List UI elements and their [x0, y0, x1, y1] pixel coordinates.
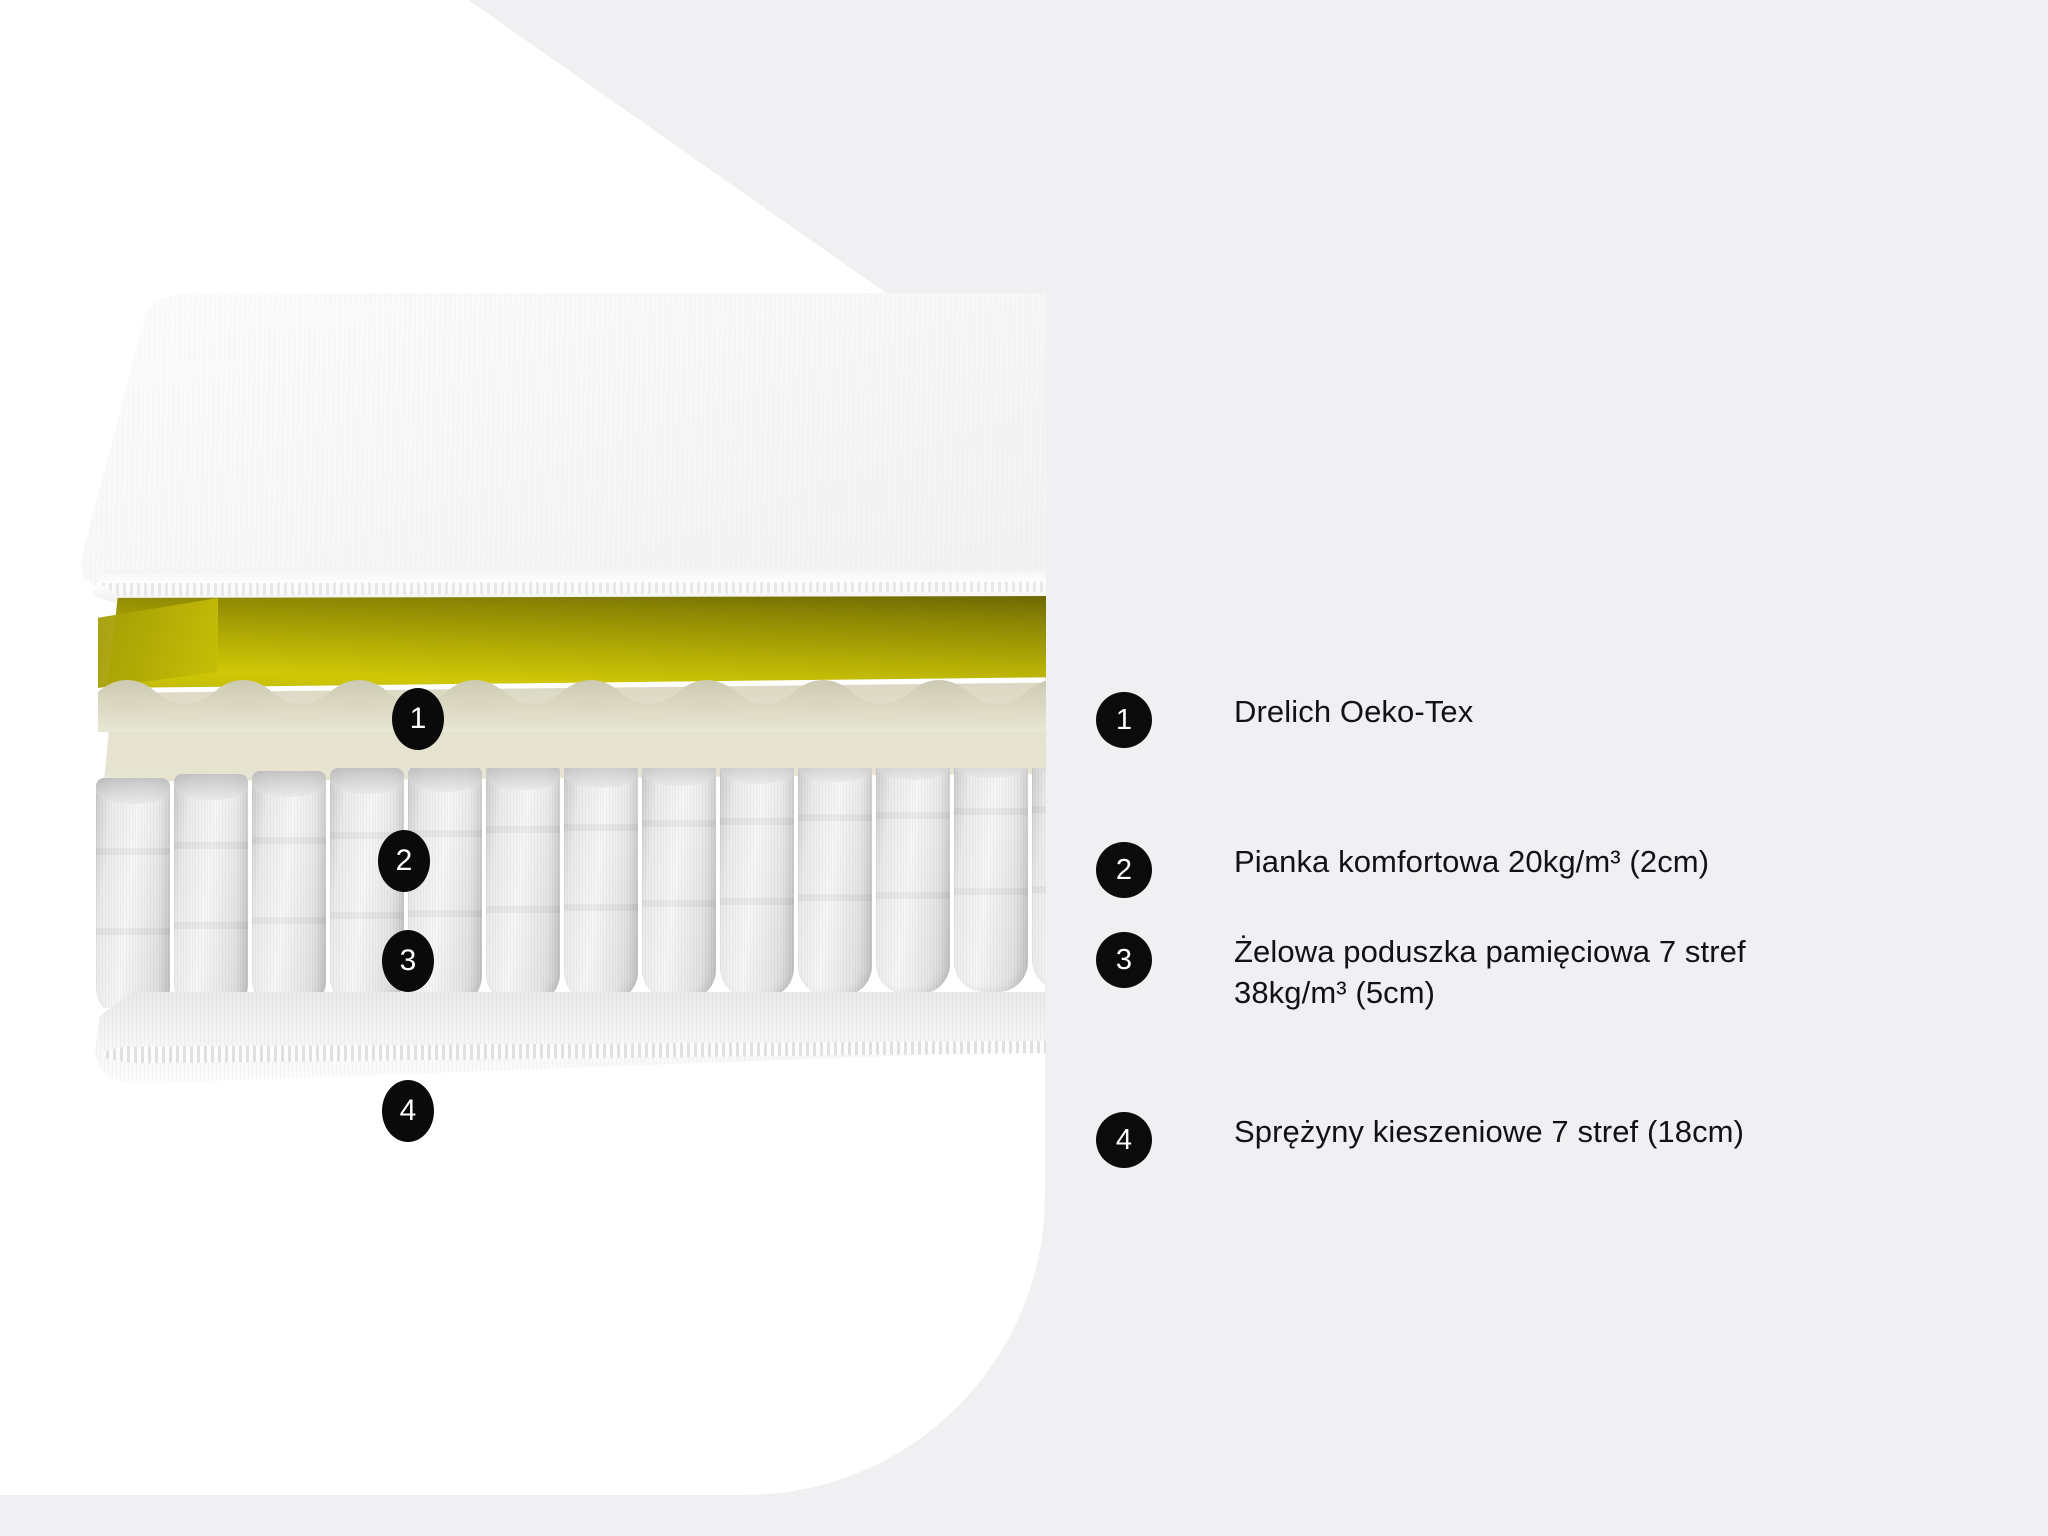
- legend-badge-2: 2: [1096, 842, 1152, 898]
- legend-badge-4: 4: [1096, 1112, 1152, 1168]
- legend-label-4: Sprężyny kieszeniowe 7 stref (18cm): [1234, 1112, 1744, 1153]
- mattress-illustration: 1 2 3 4: [0, 0, 1046, 1536]
- cover-top-surface: [70, 288, 1046, 600]
- pocket-spring: [876, 768, 950, 994]
- pocket-spring: [720, 768, 794, 998]
- legend-badge-1: 1: [1096, 692, 1152, 748]
- marker-4: 4: [382, 1080, 434, 1142]
- legend-item-4: 4 Sprężyny kieszeniowe 7 stref (18cm): [1096, 1112, 1744, 1168]
- legend-item-2: 2 Pianka komfortowa 20kg/m³ (2cm): [1096, 842, 1709, 898]
- pocket-spring: [96, 778, 170, 1008]
- marker-1: 1: [392, 688, 444, 750]
- marker-2: 2: [378, 830, 430, 892]
- legend-badge-3: 3: [1096, 932, 1152, 988]
- marker-3: 3: [382, 930, 434, 992]
- mattress-layer-cover: [70, 288, 1046, 600]
- pocket-spring: [564, 768, 638, 1002]
- pocket-spring: [174, 774, 248, 1008]
- pocket-spring: [798, 768, 872, 996]
- gel-foam-wave-profile: [98, 672, 1046, 732]
- product-layer-diagram: 1 2 3 4 1 Drelich Oeko-Tex 2 Pianka komf…: [0, 0, 2048, 1536]
- pocket-spring: [486, 768, 560, 1004]
- pocket-spring: [954, 768, 1028, 992]
- legend-label-2: Pianka komfortowa 20kg/m³ (2cm): [1234, 842, 1709, 883]
- mattress-layer-pocket-springs: [96, 768, 1046, 1008]
- legend-label-3: Żelowa poduszka pamięciowa 7 stref 38kg/…: [1234, 932, 1746, 1014]
- pocket-spring: [1032, 768, 1046, 990]
- legend-label-1: Drelich Oeko-Tex: [1234, 692, 1473, 733]
- legend-item-1: 1 Drelich Oeko-Tex: [1096, 692, 1473, 748]
- pocket-spring: [642, 768, 716, 1000]
- pocket-spring: [252, 771, 326, 1008]
- legend-item-3: 3 Żelowa poduszka pamięciowa 7 stref 38k…: [1096, 932, 1746, 1014]
- mattress-base-border: [92, 992, 1046, 1084]
